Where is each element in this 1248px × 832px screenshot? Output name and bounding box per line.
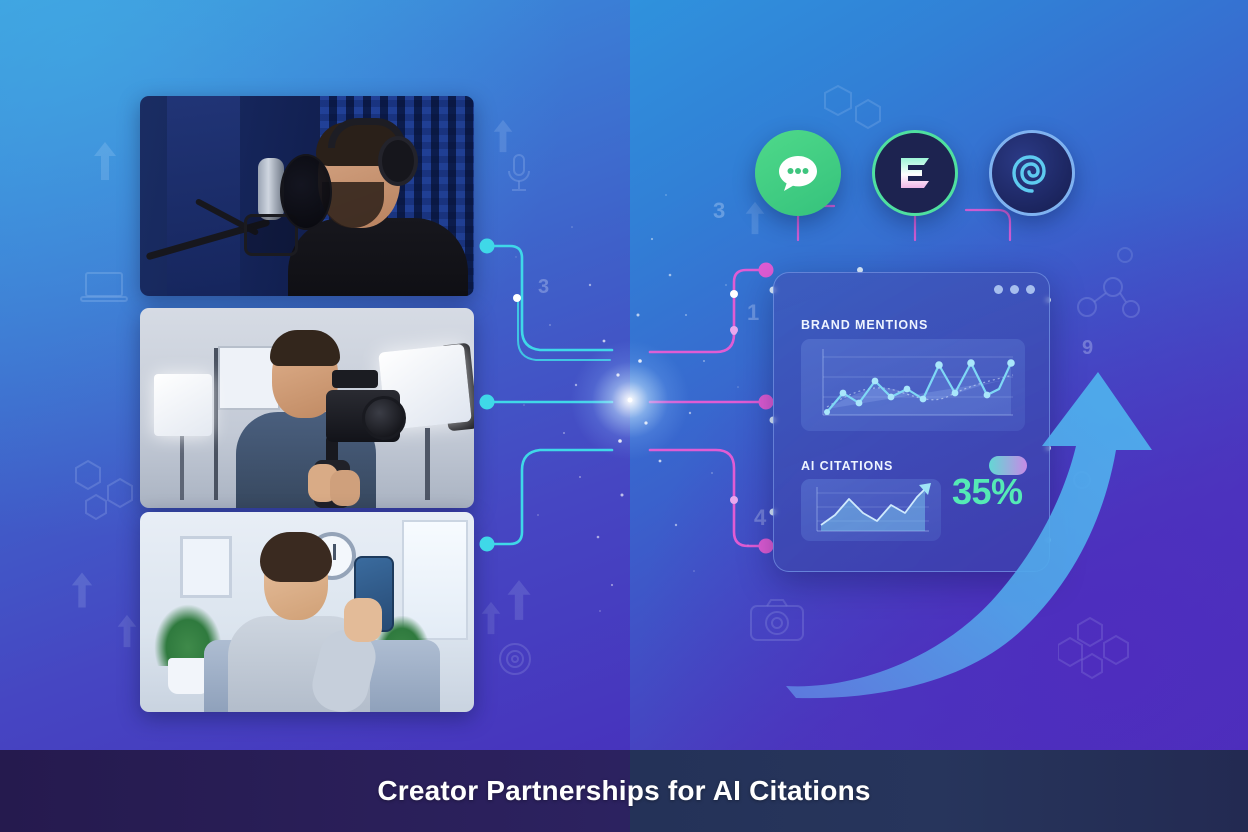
window-dot bbox=[1010, 285, 1019, 294]
window-dots bbox=[994, 285, 1035, 294]
ai-platform-spiral[interactable] bbox=[989, 130, 1075, 216]
page-title: Creator Partnerships for AI Citations bbox=[377, 775, 870, 807]
window-dot bbox=[994, 285, 1003, 294]
ai-platform-chat-bubble[interactable] bbox=[755, 130, 841, 216]
spiral-icon bbox=[1006, 147, 1058, 199]
e-logo-icon bbox=[892, 150, 938, 196]
title-bar: Creator Partnerships for AI Citations bbox=[0, 750, 1248, 832]
window-dot bbox=[1026, 285, 1035, 294]
illustration-canvas: 3 1 4 3 9 bbox=[0, 0, 1248, 832]
ai-platform-e-logo[interactable] bbox=[872, 130, 958, 216]
brand-mentions-label: BRAND MENTIONS bbox=[801, 318, 928, 332]
chat-bubble-icon bbox=[775, 150, 821, 196]
growth-arrow-icon bbox=[780, 360, 1200, 700]
